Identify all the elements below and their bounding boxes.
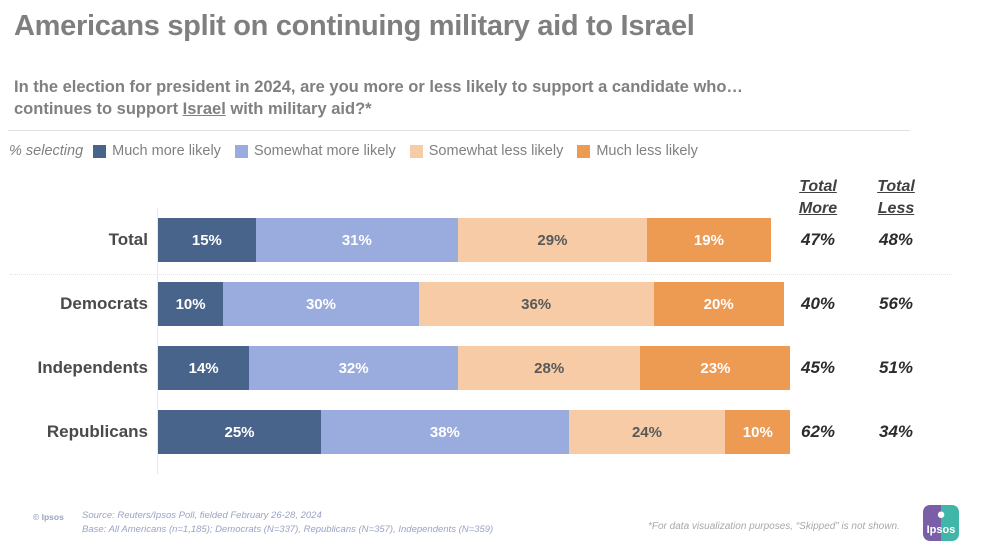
subtitle-line-2: continues to support Israel with militar… xyxy=(14,98,914,120)
total-more-value: 62% xyxy=(779,400,857,464)
legend-prefix-label: % selecting xyxy=(9,143,83,159)
subtitle-pre: continues to support xyxy=(14,100,183,118)
chart-row-label: Independents xyxy=(0,336,148,400)
chart-slide: Americans split on continuing military a… xyxy=(0,0,1000,555)
footer-source-line-2: Base: All Americans (n=1,185); Democrats… xyxy=(82,523,493,537)
logo-wordmark: Ipsos xyxy=(923,524,959,536)
legend-swatch-icon xyxy=(410,145,423,158)
total-more-header-line1: Total xyxy=(779,176,857,198)
chart-question-subtitle: In the election for president in 2024, a… xyxy=(14,76,914,121)
chart-row-label: Republicans xyxy=(0,400,148,464)
subtitle-post: with military aid?* xyxy=(226,100,372,118)
chart-row: Republicans25%38%24%10%62%34% xyxy=(0,400,1000,464)
subtitle-line-1: In the election for president in 2024, a… xyxy=(14,76,914,98)
bar-segment: 25% xyxy=(158,410,321,454)
bar-segment: 10% xyxy=(158,282,223,326)
legend-item-much-less-likely: Much less likely xyxy=(577,143,698,159)
bar-segment: 14% xyxy=(158,346,249,390)
chart-row-separator xyxy=(10,274,952,275)
bar-segment: 29% xyxy=(458,218,647,262)
chart-legend: % selecting Much more likely Somewhat mo… xyxy=(9,142,712,160)
bar-segment: 38% xyxy=(321,410,569,454)
subtitle-underlined-term: Israel xyxy=(183,100,226,118)
total-more-value: 40% xyxy=(779,272,857,336)
bar-segment: 31% xyxy=(256,218,458,262)
bar-segment: 36% xyxy=(419,282,654,326)
stacked-bar: 25%38%24%10% xyxy=(158,410,790,454)
footer-source: Source: Reuters/Ipsos Poll, fielded Febr… xyxy=(82,509,493,538)
stacked-bar: 15%31%29%19% xyxy=(158,218,771,262)
chart-row: Independents14%32%28%23%45%51% xyxy=(0,336,1000,400)
legend-item-label: Much more likely xyxy=(112,143,221,159)
legend-item-label: Somewhat less likely xyxy=(429,143,564,159)
bar-segment: 20% xyxy=(654,282,784,326)
bar-segment: 15% xyxy=(158,218,256,262)
total-less-value: 51% xyxy=(857,336,935,400)
bar-segment: 30% xyxy=(223,282,419,326)
footer-footnote: *For data visualization purposes, “Skipp… xyxy=(648,521,900,532)
stacked-bar: 14%32%28%23% xyxy=(158,346,790,390)
bar-segment: 28% xyxy=(458,346,641,390)
ipsos-logo-icon: ● Ipsos xyxy=(923,505,959,541)
legend-swatch-icon xyxy=(93,145,106,158)
legend-item-somewhat-less-likely: Somewhat less likely xyxy=(410,143,564,159)
bar-segment: 23% xyxy=(640,346,790,390)
chart-row: Democrats10%30%36%20%40%56% xyxy=(0,272,1000,336)
bar-segment: 32% xyxy=(249,346,458,390)
chart-row-label: Total xyxy=(0,208,148,272)
legend-item-much-more-likely: Much more likely xyxy=(93,143,221,159)
total-less-header-line1: Total xyxy=(857,176,935,198)
page-title: Americans split on continuing military a… xyxy=(14,10,974,43)
logo-glyph: ● xyxy=(923,507,959,522)
footer-source-line-1: Source: Reuters/Ipsos Poll, fielded Febr… xyxy=(82,509,493,523)
legend-item-label: Somewhat more likely xyxy=(254,143,396,159)
stacked-bar: 10%30%36%20% xyxy=(158,282,784,326)
total-more-value: 47% xyxy=(779,208,857,272)
bar-segment: 19% xyxy=(647,218,771,262)
total-less-value: 48% xyxy=(857,208,935,272)
legend-item-somewhat-more-likely: Somewhat more likely xyxy=(235,143,396,159)
bar-segment: 24% xyxy=(569,410,725,454)
header-divider xyxy=(8,130,910,131)
total-less-value: 34% xyxy=(857,400,935,464)
chart-row-label: Democrats xyxy=(0,272,148,336)
footer-brand: © Ipsos xyxy=(33,512,64,522)
legend-swatch-icon xyxy=(577,145,590,158)
total-less-value: 56% xyxy=(857,272,935,336)
total-more-value: 45% xyxy=(779,336,857,400)
legend-swatch-icon xyxy=(235,145,248,158)
chart-row: Total15%31%29%19%47%48% xyxy=(0,208,1000,272)
legend-item-label: Much less likely xyxy=(596,143,698,159)
